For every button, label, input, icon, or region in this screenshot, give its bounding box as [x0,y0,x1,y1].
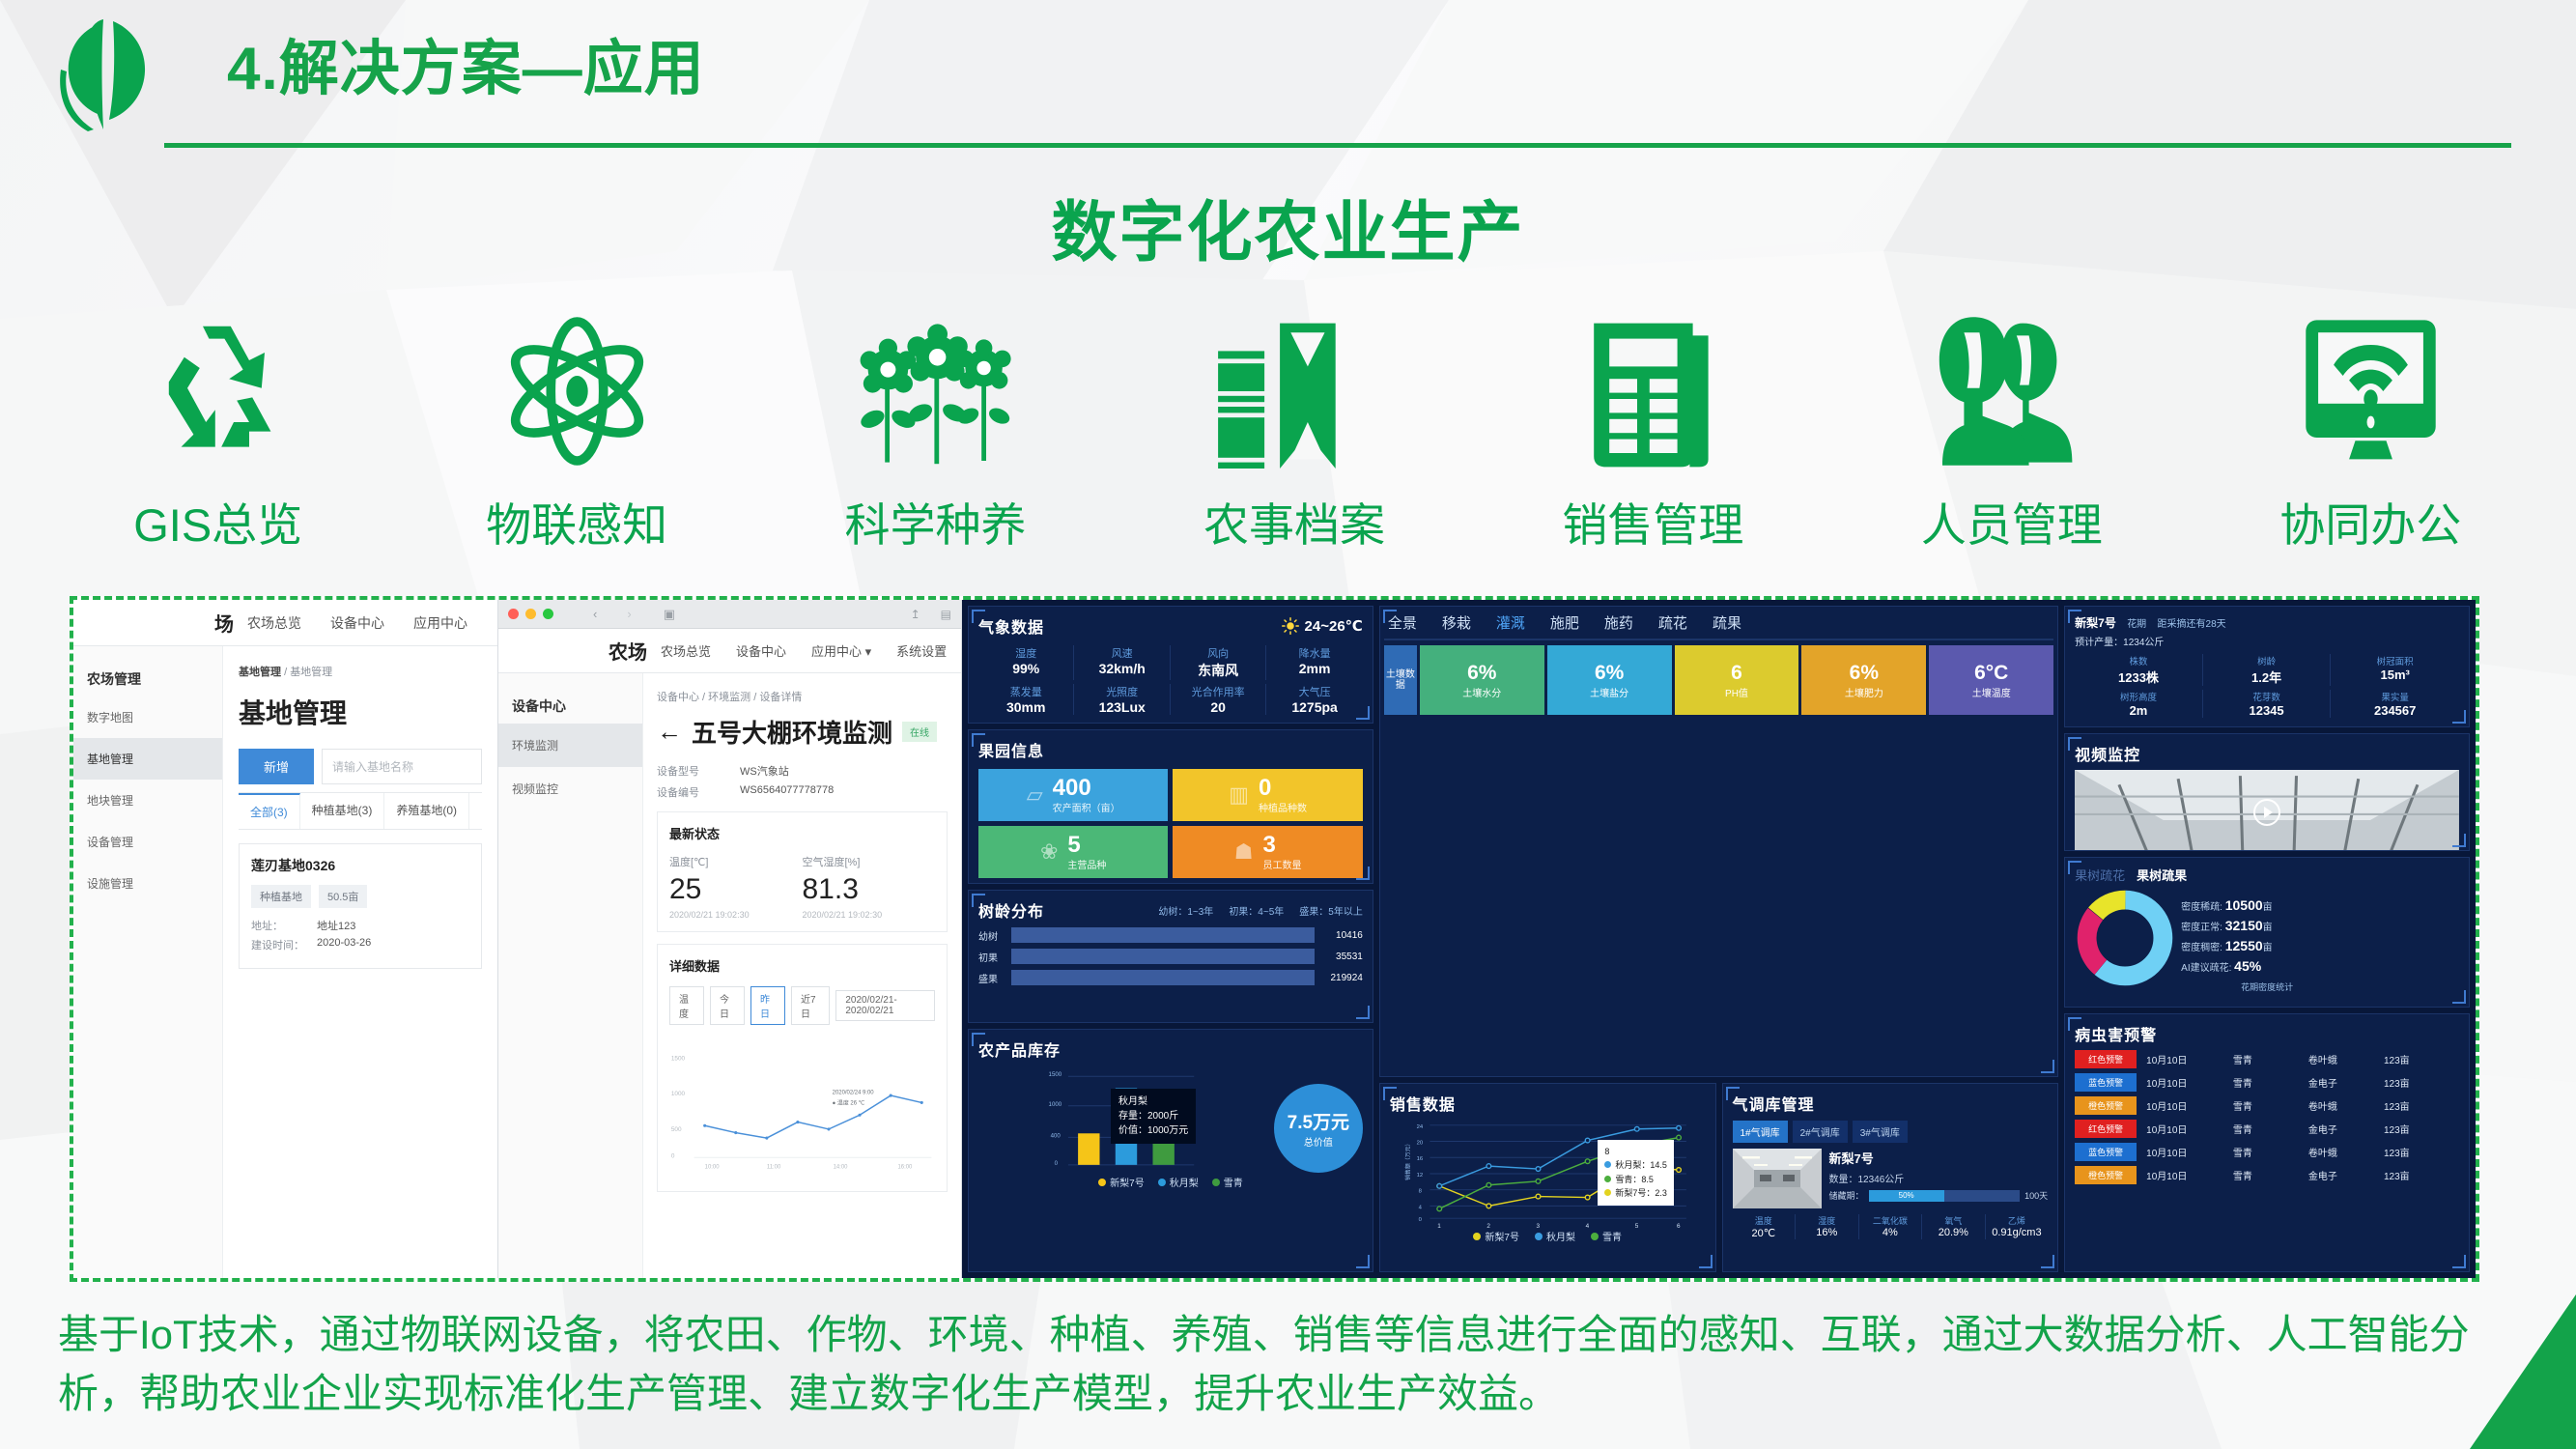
tile-number: 5 [1067,832,1080,858]
orchard-tile-area[interactable]: ▱ 400 农产面积（亩） [978,769,1168,821]
metric-key: 乙烯 [1986,1214,2049,1227]
tab-planting[interactable]: 种植基地(3) [300,793,385,829]
density-stat: 密度稠密: 12550亩 [2181,938,2459,953]
range-yesterday[interactable]: 昨日 [750,986,785,1025]
table-row[interactable]: 红色预警 10月10日 雪青 卷叶蛾 123亩 [2075,1050,2459,1068]
bar-label: 盛果 [978,971,1005,985]
tooltip-row: 新梨7号：2.3 [1604,1186,1667,1200]
feature-item-planting[interactable]: 科学种养 [756,304,1115,584]
bar-label: 初果 [978,950,1005,964]
stat-value: 32150 [2225,918,2263,933]
app-topnav: 农场总览 设备中心 应用中心 [247,613,467,633]
storage-tab-2[interactable]: 2#气调库 [1793,1121,1848,1143]
legend-item: 秋月梨 [1158,1175,1199,1189]
storage-period-bar: 储藏期： 50% 100天 [1829,1189,2049,1202]
feature-item-office[interactable]: 协同办公 [2192,304,2550,584]
pest-title: 病虫害预警 [2075,1022,2459,1045]
thinning-card: 果树疏花 果树疏果 密度稀疏: 10500亩 密度正常: 32150亩 [2064,857,2470,1008]
pest-date: 10月10日 [2146,1168,2233,1182]
x-tick: 11:00 [767,1164,781,1170]
period-total: 100天 [2024,1189,2048,1202]
feature-label: 协同办公 [2279,488,2461,554]
feature-label: 人员管理 [1921,488,2103,554]
weather-value: 2mm [1266,661,1362,676]
status-badge: 橙色预警 [2075,1166,2137,1184]
range-selector: 温度 今日 昨日 近7日 2020/02/21-2020/02/21 [669,986,935,1025]
product-screenshot-frame: 场 农场总览 设备中心 应用中心 农场管理 数字地图 基地管理 地块管理 设备管… [70,596,2479,1282]
soil-ph[interactable]: 6 PH值 [1675,645,1799,715]
legend-item: 盛果：5年以上 [1299,903,1363,918]
y-tick: 12 [1416,1173,1423,1179]
device-model-row: 设备型号 WS汽象站 [657,763,948,779]
bar-value: 219924 [1320,973,1363,983]
range-week[interactable]: 近7日 [791,986,830,1025]
pest-warning-card: 病虫害预警 红色预警 10月10日 雪青 卷叶蛾 123亩 蓝色预警 10月10… [2064,1013,2470,1272]
browser-chrome: ‹ › ▣ ↥ ▤ [498,600,961,629]
map-tab-flower-thinning[interactable]: 疏花 [1658,612,1687,633]
soil-label: 土壤温度 [1972,685,2011,699]
metric-value: 4% [1859,1227,1922,1238]
table-row[interactable]: 橙色预警 10月10日 雪青 金电子 123亩 [2075,1166,2459,1184]
orchard-tile-staff[interactable]: ☗ 3 员工数量 [1173,826,1362,878]
y-tick: 4 [1418,1205,1422,1210]
agri-dashboard-pane: 气象数据 24~26℃ [962,600,2476,1278]
play-icon[interactable] [2253,799,2280,826]
back-nav-icon[interactable]: ‹ [593,607,597,621]
breadcrumb-root[interactable]: 基地管理 [239,667,281,678]
bubble-value: 7.5万元 [1288,1108,1349,1134]
archive-book-icon [1204,304,1383,478]
status-badge: 蓝色预警 [2075,1143,2137,1161]
browser-topbar: 农场 农场总览 设备中心 应用中心 ▾ 系统设置 [498,629,961,673]
stat-unit: 亩 [2263,902,2273,913]
legend-label: 新梨7号 [1110,1179,1145,1189]
weather-item: 湿度99% [978,645,1074,680]
weather-item: 风速32km/h [1074,645,1170,680]
metric-value: 15m³ [2331,668,2459,682]
bar-value: 10416 [1320,930,1363,941]
legend-label: 新梨7号 [1485,1233,1519,1243]
arrow-left-icon[interactable]: ← [657,717,682,747]
sales-title: 销售数据 [1390,1092,1706,1115]
latest-status-title: 最新状态 [669,824,935,842]
soil-metrics-strip: 土壤数据 6% 土壤水分 6% 土壤盐分 6 PH值 6% [1384,645,2053,715]
soil-strip-label: 土壤数据 [1384,645,1417,715]
legend-label: 雪青 [1224,1179,1243,1189]
orchard-title: 果园信息 [978,738,1363,761]
stat-value: 81.3 [803,873,936,906]
detail-data-title: 详细数据 [669,956,935,975]
meta-value: WS6564077778778 [740,784,834,800]
weather-item: 风向东南风 [1171,645,1266,680]
inventory-body: 1500 1000 400 0 [978,1065,1363,1173]
weather-value: 东南风 [1171,661,1265,680]
sales-line-chart: 销售额（万元） 2420 1612 84 0 [1390,1115,1706,1229]
sales-card: 销售数据 销售额（万元） 2420 1612 84 0 [1379,1083,1716,1272]
feature-item-iot[interactable]: 物联感知 [397,304,755,584]
page-header: 4.解决方案—应用 [0,0,2576,145]
maximize-icon[interactable] [543,609,553,619]
x-tick: 1 [1437,1223,1441,1229]
tree-age-card: 树龄分布 幼树：1~3年 初果：4~5年 盛果：5年以上 幼树 10416 初果 [968,890,1373,1023]
latest-status-box: 最新状态 温度[℃] 25 2020/02/21 19:02:30 空气湿度[%… [657,811,948,932]
title-underline [164,143,2511,148]
breadcrumb-current: 基地管理 [290,667,332,678]
weather-temp: 24~26℃ [1305,617,1363,635]
weather-item: 降水量2mm [1266,645,1362,680]
stat-label: 空气湿度[%] [803,854,936,869]
video-player[interactable] [2075,770,2459,851]
metric-key: 湿度 [1796,1214,1858,1227]
soil-label: 土壤水分 [1462,685,1501,699]
app-topbar: 场 农场总览 设备中心 应用中心 [73,600,497,646]
density-stat: 密度正常: 32150亩 [2181,918,2459,933]
period-fill: 50% [1869,1190,1944,1202]
soil-salinity[interactable]: 6% 土壤盐分 [1547,645,1672,715]
y-axis-label: 销售额（万元） [1404,1141,1412,1180]
recycle-icon [136,304,300,478]
video-title: 视频监控 [2075,742,2459,765]
density-donut-chart [2075,888,2175,988]
topnav-item[interactable]: 设备中心 [736,641,786,660]
x-tick: 16:00 [898,1164,914,1170]
map-tab-fruit-thinning[interactable]: 疏果 [1713,612,1741,633]
meta-key: 设备编号 [657,784,740,800]
worker-icon: ☗ [1234,839,1254,865]
tooltip-row: 雪青：8.5 [1604,1173,1667,1186]
legend-item: 雪青 [1212,1175,1243,1189]
base-card-title: 莲刃基地0326 [251,856,469,875]
topnav-item[interactable]: 应用中心 ▾ [811,641,871,660]
weather-value: 30mm [978,699,1073,715]
pest-area: 123亩 [2384,1168,2459,1182]
video-monitor-card: 视频监控 [2064,733,2470,851]
metric-key: 二氧化碳 [1859,1214,1922,1227]
pest-date: 10月10日 [2146,1052,2233,1066]
tree-name: 新梨7号 [2075,616,2116,630]
y-tick: 1500 [671,1055,686,1062]
farm-3d-map[interactable]: 灌溉数据 当前灌溉角度：60lm 当前流量：500m³/h 当前管道压力：3ba… [1384,639,2053,640]
x-tick: 14:00 [834,1164,849,1170]
sidebar-item-env-monitor[interactable]: 环境监测 [498,724,642,767]
weather-key: 光合作用率 [1171,684,1265,699]
y-tick: 0 [1418,1217,1422,1223]
weather-value: 123Lux [1074,699,1169,715]
base-card[interactable]: 莲刃基地0326 种植基地 50.5亩 地址： 地址123 建设时间： 2020… [239,843,482,969]
pest-name: 卷叶蛾 [2308,1098,2384,1113]
tab-flower-thinning[interactable]: 果树疏花 [2075,866,2125,884]
map-tabs: 全景 移栽 灌溉 施肥 施药 疏花 疏果 [1384,611,2053,639]
breadcrumb: 设备中心 / 环境监测 / 设备详情 [657,689,948,704]
range-date-input[interactable]: 2020/02/21-2020/02/21 [835,990,935,1021]
center-bottom-row: 销售数据 销售额（万元） 2420 1612 84 0 [1379,1083,2058,1272]
sidebar-item-plot[interactable]: 地块管理 [73,780,222,821]
weather-key: 湿度 [978,645,1073,661]
forward-nav-icon[interactable]: › [627,607,631,621]
pest-crop: 雪青 [2233,1075,2308,1090]
base-tabs: 全部(3) 种植基地(3) 养殖基地(0) [239,793,482,830]
metric-key: 树形高度 [2075,690,2202,703]
stat-timestamp: 2020/02/21 19:02:30 [669,910,803,920]
soil-value: 6°C [1974,662,2008,685]
storage-metric: 湿度16% [1796,1214,1859,1239]
pest-area: 123亩 [2384,1075,2459,1090]
tree-age-bar: 幼树 10416 [978,927,1363,943]
sales-tooltip: 8 秋月梨：14.5 雪青：8.5 新梨7号：2.3 [1598,1140,1674,1206]
device-title-row: ← 五号大棚环境监测 在线 [657,714,948,750]
metric-value: 20.9% [1922,1227,1985,1238]
density-stats: 密度稀疏: 10500亩 密度正常: 32150亩 密度稠密: 12550亩 A… [2181,897,2459,979]
tree-metrics-grid: 株数1233株 树龄1.2年 树冠面积15m³ 树形高度2m 花芽数12345 … [2075,654,2459,718]
storage-metric: 氧气20.9% [1922,1214,1986,1239]
x-tick: 6 [1677,1223,1681,1229]
feature-label: GIS总览 [133,488,302,554]
pest-crop: 雪青 [2233,1168,2308,1182]
building-icon: ▥ [1229,782,1249,808]
soil-value: 6% [1467,662,1496,685]
stat-timestamp: 2020/02/21 19:02:30 [803,910,936,920]
tile-label: 员工数量 [1263,857,1302,871]
weather-grid: 湿度99% 风速32km/h 风向东南风 降水量2mm 蒸发量30mm 光照度1… [978,645,1363,715]
meta-key: 设备型号 [657,763,740,779]
soil-fertility[interactable]: 6% 土壤肥力 [1801,645,1926,715]
weather-value: 99% [978,661,1073,676]
y-tick: 1000 [1049,1101,1062,1108]
sales-legend: 新梨7号 秋月梨 雪青 [1390,1229,1706,1243]
tab-breeding[interactable]: 养殖基地(0) [384,793,469,829]
sidebar-item-video-monitor[interactable]: 视频监控 [498,767,642,810]
sidebar-item-base[interactable]: 基地管理 [73,738,222,780]
table-row[interactable]: 蓝色预警 10月10日 雪青 卷叶蛾 123亩 [2075,1143,2459,1161]
table-row[interactable]: 橙色预警 10月10日 雪青 卷叶蛾 123亩 [2075,1096,2459,1115]
feature-item-gis[interactable]: GIS总览 [39,304,397,584]
legend-label: 秋月梨 [1546,1233,1575,1243]
feature-item-sales[interactable]: 销售管理 [1474,304,1832,584]
dashboard-left-column: 气象数据 24~26℃ [968,606,1373,1272]
admin-app-pane: 场 农场总览 设备中心 应用中心 农场管理 数字地图 基地管理 地块管理 设备管… [73,600,498,1278]
y-tick: 1000 [671,1091,686,1097]
weather-key: 风向 [1171,645,1265,661]
tree-header: 新梨7号 花期 距采摘还有28天 [2075,614,2459,631]
legend-item: 雪青 [1591,1229,1622,1243]
tree-yield: 预计产量：1234公斤 [2075,634,2459,648]
browser-app-pane: ‹ › ▣ ↥ ▤ 农场 农场总览 设备中心 应用中心 ▾ 系统设置 设备中心 … [498,600,962,1278]
y-tick: 24 [1416,1124,1423,1130]
tile-label: 主营品种 [1067,857,1106,871]
tree-metric: 树龄1.2年 [2203,654,2332,686]
tree-detail-card: 新梨7号 花期 距采摘还有28天 预计产量：1234公斤 株数1233株 树龄1… [2064,606,2470,727]
sidebar-item-map[interactable]: 数字地图 [73,696,222,738]
orchard-tile-varieties[interactable]: ▥ 0 种植品种数 [1173,769,1362,821]
tooltip-text: 新梨7号：2.3 [1615,1188,1667,1198]
map-tab-irrigation[interactable]: 灌溉 [1496,612,1525,633]
pest-area: 123亩 [2384,1098,2459,1113]
feature-item-staff[interactable]: 人员管理 [1832,304,2191,584]
metric-key: 果实量 [2331,690,2459,703]
app-sidebar: 设备中心 环境监测 视频监控 [498,673,643,1278]
soil-label: 土壤肥力 [1845,685,1883,699]
storage-tab-3[interactable]: 3#气调库 [1853,1121,1908,1143]
section-title: 数字化农业生产 [0,179,2576,274]
base-value: 地址123 [317,918,355,933]
topnav-item[interactable]: 农场总览 [661,641,711,660]
weather-value: 20 [1171,699,1265,715]
people-icon [1925,304,2099,478]
status-badge: 红色预警 [2075,1050,2137,1068]
table-row[interactable]: 红色预警 10月10日 雪青 金电子 123亩 [2075,1120,2459,1138]
soil-value: 6% [1595,662,1624,685]
total-value-bubble: 7.5万元 总价值 [1274,1084,1363,1173]
metric-select[interactable]: 温度 [669,986,704,1025]
close-icon[interactable] [508,609,519,619]
device-detail-content: 设备中心 / 环境监测 / 设备详情 ← 五号大棚环境监测 在线 设备型号 WS… [643,673,961,1278]
range-today[interactable]: 今日 [710,986,745,1025]
breadcrumb: 基地管理 / 基地管理 [239,664,482,679]
storage-metrics: 温度20℃ 湿度16% 二氧化碳4% 氧气20.9% 乙烯0.91g/cm3 [1733,1214,2049,1239]
pest-date: 10月10日 [2146,1075,2233,1090]
tree-age-bars: 幼树 10416 初果 35531 盛果 219924 [978,927,1363,985]
sidebar-item-facility[interactable]: 设施管理 [73,863,222,904]
inventory-bar-chart: 1500 1000 400 0 [978,1065,1266,1173]
share-icon[interactable]: ↥ [911,608,920,621]
metric-value: 16% [1796,1227,1858,1238]
y-tick: 0 [1055,1160,1059,1167]
legend-label: 秋月梨 [1170,1179,1199,1189]
weather-key: 光照度 [1074,684,1169,699]
metric-value: 2m [2075,703,2202,718]
tile-number: 0 [1259,775,1271,801]
pest-date: 10月10日 [2146,1145,2233,1159]
x-tick: 4 [1586,1223,1590,1229]
storage-room-photo [1733,1149,1822,1208]
map-tab-fertilize[interactable]: 施肥 [1550,612,1579,633]
tree-age-bar: 盛果 219924 [978,970,1363,985]
leaf-icon [53,17,159,131]
stat-key: 密度稠密: [2181,943,2222,953]
weather-value: 1275pa [1266,699,1362,715]
farm-map-card: 全景 移栽 灌溉 施肥 施药 疏花 疏果 [1379,606,2058,1077]
tab-all[interactable]: 全部(3) [239,793,300,829]
topnav-item[interactable]: 农场总览 [247,613,301,633]
weather-title: 气象数据 [978,614,1044,638]
x-tick: 5 [1635,1223,1639,1229]
table-row[interactable]: 蓝色预警 10月10日 雪青 金电子 123亩 [2075,1073,2459,1092]
tab-fruit-thinning[interactable]: 果树疏果 [2137,866,2187,884]
pest-name: 金电子 [2308,1168,2384,1182]
legend-item: 初果：4~5年 [1229,903,1284,918]
base-row-builtdate: 建设时间： 2020-03-26 [251,937,469,952]
stat-label: 温度[℃] [669,854,803,869]
meta-value: WS汽象站 [740,763,789,779]
atom-icon [493,304,662,478]
sun-icon [1282,617,1299,635]
topnav-item[interactable]: 设备中心 [330,613,384,633]
minimize-icon[interactable] [525,609,536,619]
orchard-tile-main-crop[interactable]: ❀ 5 主营品种 [978,826,1168,878]
metric-key: 株数 [2075,654,2202,668]
stat-value: 25 [669,873,803,906]
stat-key: 密度稀疏: [2181,902,2222,913]
feature-label: 物联感知 [486,488,667,554]
add-base-button[interactable]: 新增 [239,749,314,784]
temperature-line-chart: 1500 1000 500 0 [669,1035,935,1179]
tree-age-title: 树龄分布 [978,898,1044,922]
storage-tab-1[interactable]: 1#气调库 [1733,1121,1788,1143]
legend-item: 新梨7号 [1473,1229,1519,1243]
inventory-card: 农产品库存 1500 1000 400 0 [968,1029,1373,1272]
y-tick: 20 [1416,1140,1423,1146]
soil-value: 6% [1850,662,1879,685]
weather-value: 32km/h [1074,661,1169,676]
tree-metric: 株数1233株 [2075,654,2203,686]
detail-data-box: 详细数据 温度 今日 昨日 近7日 2020/02/21-2020/02/21 … [657,944,948,1192]
page-title: 4.解决方案—应用 [227,19,705,106]
tile-number: 3 [1263,832,1276,858]
metric-key: 温度 [1733,1214,1796,1227]
tree-age-bar: 初果 35531 [978,949,1363,964]
app-topnav: 农场总览 设备中心 应用中心 ▾ 系统设置 [661,641,947,660]
search-input[interactable]: 请输入基地名称 [322,749,482,784]
metric-value: 234567 [2331,703,2459,718]
soil-value: 6 [1731,662,1742,685]
pest-crop: 雪青 [2233,1098,2308,1113]
topnav-item[interactable]: 系统设置 [896,641,947,660]
metric-key: 树冠面积 [2331,654,2459,668]
inventory-legend: 新梨7号 秋月梨 雪青 [978,1175,1363,1189]
device-serial-row: 设备编号 WS6564077778778 [657,784,948,800]
pest-area: 123亩 [2384,1122,2459,1136]
sidebar-group-label: 农场管理 [73,662,222,696]
storage-metric: 乙烯0.91g/cm3 [1986,1214,2049,1239]
x-tick: 2 [1486,1223,1490,1229]
chart-tooltip-value: ● 温度 26 ℃ [833,1098,865,1106]
base-chip-type: 种植基地 [251,885,311,908]
topnav-item[interactable]: 应用中心 [413,613,467,633]
sidebar-group-label: 设备中心 [498,689,642,724]
tooltip-text: 雪青：8.5 [1615,1175,1654,1184]
tree-age-legend: 幼树：1~3年 初果：4~5年 盛果：5年以上 [1158,903,1363,918]
orchard-info-card: 果园信息 ▱ 400 农产面积（亩） ▥ 0 种植品种数 ❀ 5 [968,729,1373,884]
map-tab-transplant[interactable]: 移栽 [1442,612,1471,633]
flowers-icon [844,304,1028,478]
x-tick: 10:00 [705,1164,721,1170]
pest-area: 123亩 [2384,1052,2459,1066]
weather-key: 大气压 [1266,684,1362,699]
app-brand: 场 [73,609,247,637]
app-brand: 农场 [498,637,661,665]
metric-value: 20℃ [1733,1227,1796,1239]
weather-item: 大气压1275pa [1266,684,1362,715]
weather-key: 降水量 [1266,645,1362,661]
status-badge: 橙色预警 [2075,1096,2137,1115]
legend-label: 雪青 [1602,1233,1622,1243]
metric-value: 1233株 [2075,668,2202,686]
status-badge: 在线 [902,722,937,742]
soil-temperature[interactable]: 6°C 土壤温度 [1929,645,2053,715]
tabs-icon[interactable]: ▤ [941,608,951,621]
sidebar-toggle-icon[interactable]: ▣ [664,607,675,622]
pest-name: 卷叶蛾 [2308,1052,2384,1066]
map-tab-panorama[interactable]: 全景 [1388,612,1417,633]
sidebar-item-device[interactable]: 设备管理 [73,821,222,863]
bar-label: 幼树 [978,928,1005,943]
storage-metric: 温度20℃ [1733,1214,1797,1239]
tooltip-text: 秋月梨：14.5 [1615,1160,1667,1170]
soil-moisture[interactable]: 6% 土壤水分 [1420,645,1544,715]
map-tab-pesticide[interactable]: 施药 [1604,612,1633,633]
feature-item-archive[interactable]: 农事档案 [1115,304,1473,584]
metric-key: 氧气 [1922,1214,1985,1227]
